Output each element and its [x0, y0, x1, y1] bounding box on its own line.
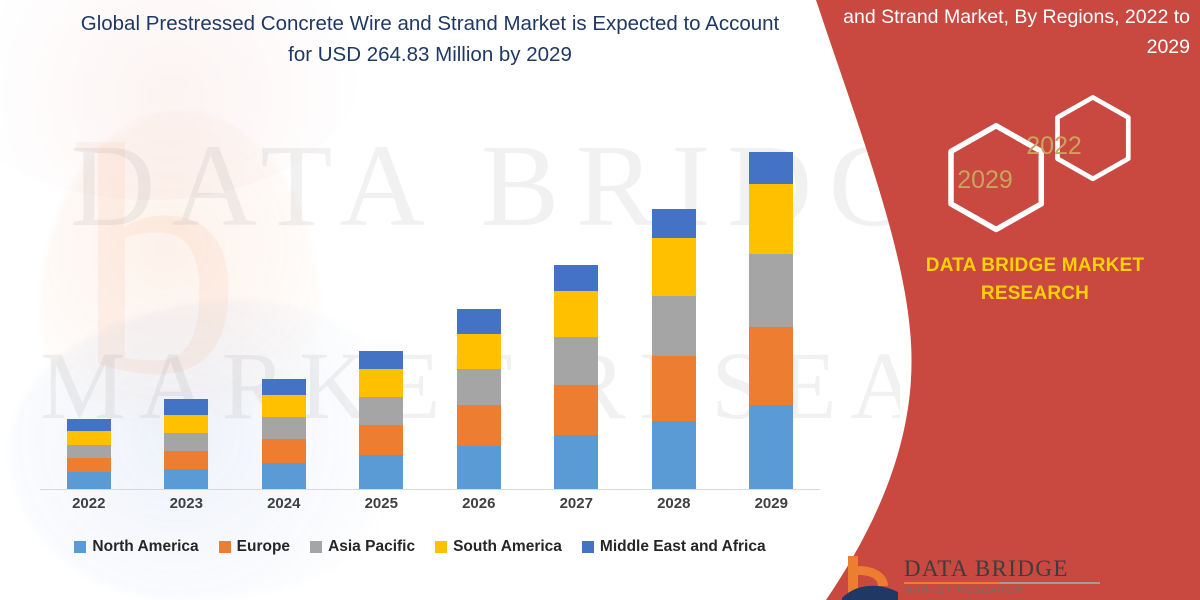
chart-title: Global Prestressed Concrete Wire and Str… — [70, 8, 790, 70]
segment-middle-east-and-africa[interactable] — [457, 309, 501, 334]
x-tick-2022: 2022 — [44, 495, 134, 512]
segment-south-america[interactable] — [359, 369, 403, 397]
legend-label: North America — [92, 538, 198, 556]
bar-2025[interactable] — [359, 351, 403, 489]
segment-middle-east-and-africa[interactable] — [164, 399, 208, 415]
segment-middle-east-and-africa[interactable] — [652, 209, 696, 238]
segment-europe[interactable] — [359, 425, 403, 455]
legend-swatch-icon — [435, 541, 447, 553]
stacked-bar-chart — [40, 100, 820, 490]
segment-south-america[interactable] — [164, 415, 208, 433]
x-tick-2023: 2023 — [141, 495, 231, 512]
segment-north-america[interactable] — [457, 446, 501, 489]
bar-2023[interactable] — [164, 399, 208, 489]
bar-2028[interactable] — [652, 209, 696, 489]
bar-2022[interactable] — [67, 419, 111, 489]
segment-middle-east-and-africa[interactable] — [554, 265, 598, 291]
bridge-logo-icon — [842, 552, 898, 600]
chart-legend: North AmericaEuropeAsia PacificSouth Ame… — [40, 538, 800, 556]
legend-label: Asia Pacific — [328, 538, 415, 556]
hex-2022-label: 2022 — [1026, 132, 1082, 160]
segment-asia-pacific[interactable] — [262, 417, 306, 439]
segment-asia-pacific[interactable] — [359, 397, 403, 426]
segment-south-america[interactable] — [652, 238, 696, 296]
x-axis-line — [40, 489, 820, 490]
x-tick-2028: 2028 — [629, 495, 719, 512]
legend-item-south-america[interactable]: South America — [435, 538, 562, 556]
x-tick-2025: 2025 — [336, 495, 426, 512]
legend-label: Middle East and Africa — [600, 538, 766, 556]
x-tick-2024: 2024 — [239, 495, 329, 512]
segment-europe[interactable] — [457, 405, 501, 446]
logo-tagline: MARKET RESEARCH — [904, 585, 1023, 596]
segment-north-america[interactable] — [67, 472, 111, 489]
segment-asia-pacific[interactable] — [554, 337, 598, 385]
segment-middle-east-and-africa[interactable] — [67, 419, 111, 431]
segment-south-america[interactable] — [67, 431, 111, 444]
hex-2029-label: 2029 — [957, 166, 1013, 194]
brand-name: DATA BRIDGE MARKET RESEARCH — [880, 252, 1190, 308]
segment-middle-east-and-africa[interactable] — [262, 379, 306, 396]
legend-item-north-america[interactable]: North America — [74, 538, 198, 556]
legend-swatch-icon — [219, 541, 231, 553]
legend-swatch-icon — [74, 541, 86, 553]
logo-divider — [904, 582, 1100, 584]
segment-south-america[interactable] — [554, 291, 598, 337]
company-logo: DATA BRIDGE MARKET RESEARCH — [842, 552, 1200, 600]
legend-swatch-icon — [310, 541, 322, 553]
legend-label: South America — [453, 538, 562, 556]
segment-europe[interactable] — [164, 451, 208, 469]
bar-2027[interactable] — [554, 265, 598, 489]
branding-pane: and Strand Market, By Regions, 2022 to 2… — [760, 0, 1200, 600]
legend-item-asia-pacific[interactable]: Asia Pacific — [310, 538, 415, 556]
branding-content: and Strand Market, By Regions, 2022 to 2… — [760, 0, 1200, 600]
segment-north-america[interactable] — [359, 455, 403, 489]
segment-south-america[interactable] — [262, 395, 306, 417]
segment-europe[interactable] — [652, 356, 696, 421]
segment-asia-pacific[interactable] — [652, 296, 696, 356]
segment-europe[interactable] — [262, 439, 306, 463]
segment-asia-pacific[interactable] — [67, 445, 111, 458]
legend-item-europe[interactable]: Europe — [219, 538, 290, 556]
legend-item-middle-east-and-africa[interactable]: Middle East and Africa — [582, 538, 766, 556]
segment-north-america[interactable] — [554, 435, 598, 489]
bar-2026[interactable] — [457, 309, 501, 489]
segment-north-america[interactable] — [652, 421, 696, 489]
x-tick-2026: 2026 — [434, 495, 524, 512]
x-axis-labels: 20222023202420252026202720282029 — [40, 495, 820, 521]
infographic-canvas: b DATA BRIDGE MARKET RESEARCH Global Pre… — [0, 0, 1200, 600]
legend-swatch-icon — [582, 541, 594, 553]
bar-2024[interactable] — [262, 379, 306, 489]
segment-asia-pacific[interactable] — [457, 369, 501, 405]
segment-north-america[interactable] — [262, 463, 306, 489]
plot-area — [40, 100, 820, 490]
legend-label: Europe — [237, 538, 290, 556]
x-tick-2027: 2027 — [531, 495, 621, 512]
segment-south-america[interactable] — [457, 334, 501, 369]
logo-wordmark: DATA BRIDGE — [904, 556, 1069, 582]
segment-middle-east-and-africa[interactable] — [359, 351, 403, 369]
segment-asia-pacific[interactable] — [164, 433, 208, 451]
segment-europe[interactable] — [554, 385, 598, 435]
segment-europe[interactable] — [67, 458, 111, 472]
segment-north-america[interactable] — [164, 469, 208, 489]
